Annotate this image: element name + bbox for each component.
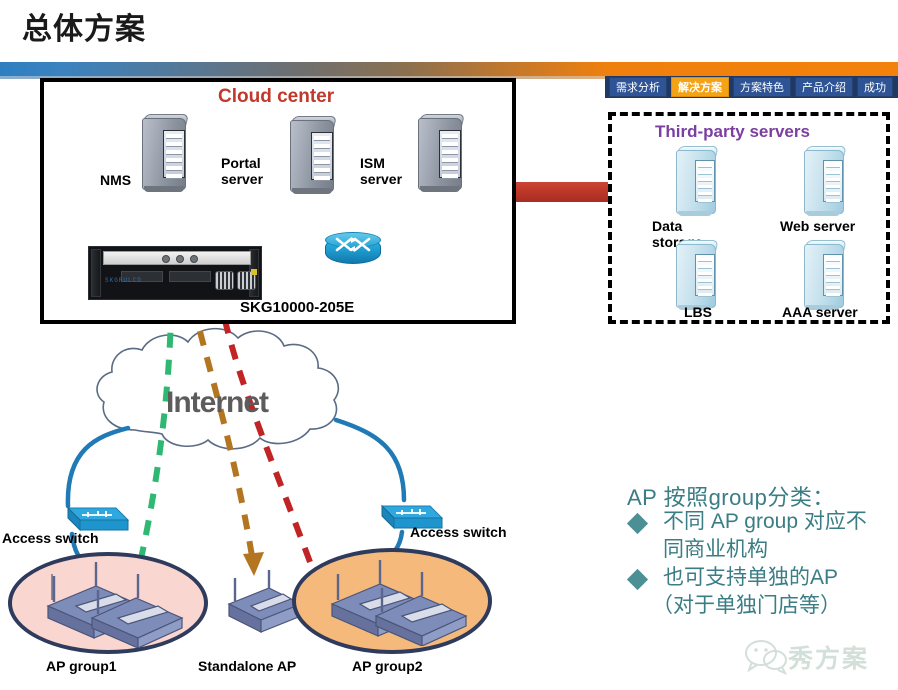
- lbs-server-icon: [672, 236, 720, 310]
- ap-group1-devices: [30, 560, 190, 648]
- portal-server-icon: [286, 112, 338, 194]
- ism-server-icon: [414, 110, 466, 192]
- controller-chassis-icon: SKGRULCD: [88, 246, 262, 300]
- web-server-label: Web server: [780, 218, 855, 234]
- watermark-text: 秀方案: [788, 639, 869, 675]
- ap-group2-label: AP group2: [352, 658, 423, 674]
- page-title: 总体方案: [22, 8, 146, 52]
- access-switch-left-label: Access switch: [2, 530, 99, 546]
- access-switch-right-label: Access switch: [410, 524, 507, 540]
- watermark: 秀方案: [744, 637, 894, 679]
- bullet-diamond-2: [627, 569, 648, 590]
- ap-group2-devices: [314, 556, 474, 646]
- web-server-icon: [800, 142, 848, 216]
- tab-products[interactable]: 产品介绍: [795, 77, 853, 97]
- ap-group1-label: AP group1: [46, 658, 117, 674]
- ism-server-label: ISM server: [360, 155, 402, 187]
- access-switch-left-icon: [54, 500, 118, 530]
- slide-canvas: 总体方案 需求分析 解决方案 方案特色 产品介绍 成功: [0, 0, 898, 690]
- tab-success[interactable]: 成功: [857, 77, 893, 97]
- tab-requirements[interactable]: 需求分析: [609, 77, 667, 97]
- wechat-icon: [744, 637, 788, 675]
- nms-server-icon: [138, 110, 190, 192]
- data-storage-icon: [672, 142, 720, 216]
- cloud-center-title: Cloud center: [218, 86, 334, 108]
- notes-item-2-line1: 也可支持单独的AP: [663, 564, 838, 591]
- notes-item-1-line1: 不同 AP group 对应不: [663, 508, 867, 535]
- notes-item-2-line2: （对于单独门店等）: [652, 592, 841, 619]
- lbs-label: LBS: [684, 304, 712, 320]
- title-gradient-bar: [0, 62, 898, 76]
- standalone-ap-label: Standalone AP: [198, 658, 296, 674]
- tunnel-standalone: [196, 316, 252, 556]
- router-icon: [325, 232, 379, 266]
- aaa-server-label: AAA server: [782, 304, 858, 320]
- portal-server-label: Portal server: [221, 155, 263, 187]
- notes-item-1-line2: 同商业机构: [663, 536, 768, 563]
- tab-solution[interactable]: 解决方案: [671, 77, 729, 97]
- section-nav: 需求分析 解决方案 方案特色 产品介绍 成功: [605, 76, 898, 98]
- tab-features[interactable]: 方案特色: [733, 77, 791, 97]
- controller-label: SKG10000-205E: [240, 300, 354, 316]
- third-party-servers-title: Third-party servers: [655, 122, 810, 142]
- bullet-diamond-1: [627, 513, 648, 534]
- internet-label: Internet: [166, 386, 268, 420]
- tunnel-group2: [224, 316, 310, 562]
- nms-label: NMS: [100, 172, 131, 188]
- aaa-server-icon: [800, 236, 848, 310]
